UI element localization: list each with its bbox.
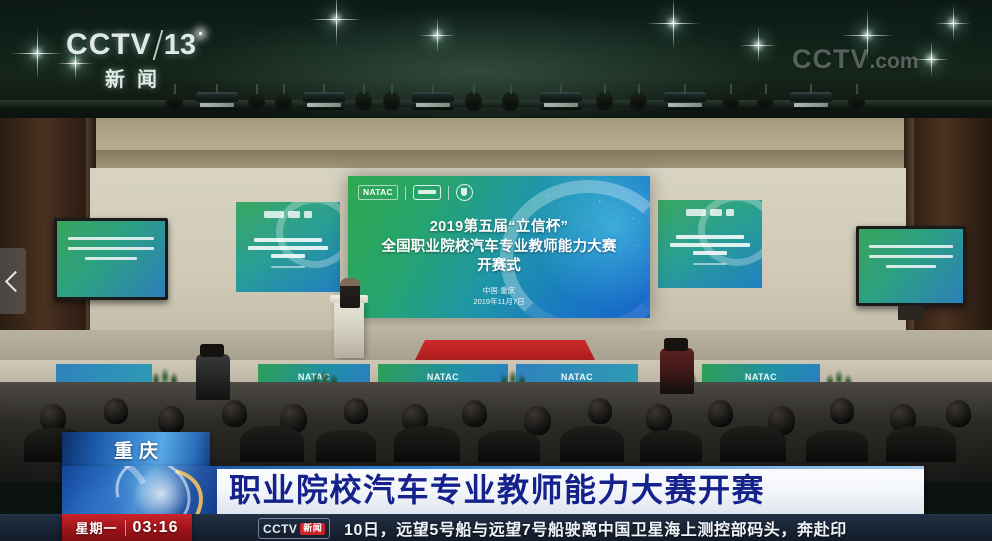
audience-figure: [886, 426, 956, 462]
stage-light-par: [248, 92, 265, 111]
speaker-person: [340, 278, 360, 308]
stage-side-banner-left: [236, 202, 340, 292]
audience-head: [344, 398, 368, 424]
audience-figure: [394, 426, 460, 462]
ticker-channel-badge: CCTV 新闻: [258, 518, 330, 539]
stage-light-par: [848, 92, 865, 111]
red-carpet: [414, 340, 596, 362]
light-flare: [952, 22, 954, 24]
audience-head: [104, 398, 128, 424]
audience-figure: [640, 430, 702, 462]
location-tag: 重庆: [62, 432, 210, 466]
light-flare: [36, 52, 38, 54]
stage-light-par: [166, 92, 183, 111]
stage-light-par: [757, 92, 774, 111]
broadcast-frame: NATAC 2019第五届“立信杯” 全国职业院校汽车专业教师能力大赛 开赛式 …: [0, 0, 992, 541]
screen-title-block: 2019第五届“立信杯” 全国职业院校汽车专业教师能力大赛 开赛式: [348, 218, 650, 277]
stage-light-par: [465, 92, 482, 111]
stage-light-par: [502, 92, 519, 111]
light-flare: [436, 34, 438, 36]
light-flare: [74, 62, 76, 64]
audience-figure: [806, 430, 868, 462]
screen-sponsor-logos: NATAC: [358, 184, 473, 201]
camera-operator: [660, 348, 694, 394]
audience-figure: [720, 426, 786, 462]
ticker-time: 03:16: [133, 519, 179, 537]
audience-head: [830, 398, 854, 424]
previous-arrow-button[interactable]: [0, 248, 26, 314]
light-flare: [335, 18, 337, 20]
audience-head: [946, 400, 971, 427]
ticker-clock-block: 星期一 03:16: [62, 514, 192, 541]
stage-light-par: [630, 92, 647, 111]
audience-head: [646, 404, 672, 432]
stage-light-fresnel: [540, 92, 582, 110]
stage-light-par: [355, 92, 372, 111]
screen-footer-date: 2019年11月7日: [348, 296, 650, 307]
stage-light-par: [596, 92, 613, 111]
audience-figure: [478, 430, 540, 462]
stage-light-fresnel: [664, 92, 706, 110]
natac-logo: NATAC: [358, 185, 398, 200]
podium: [334, 300, 364, 358]
screen-title-line-3: 开赛式: [348, 257, 650, 277]
stage-light-par: [275, 92, 292, 111]
chevron-left-icon: [4, 270, 25, 291]
ticker-weekday: 星期一: [76, 518, 118, 537]
ticker-clock-divider: [125, 520, 126, 536]
light-flare: [930, 58, 932, 60]
location-label: 重庆: [108, 436, 164, 463]
headline-text: 职业院校汽车专业教师能力大赛开赛: [217, 474, 924, 506]
sponsor-box-logo: [413, 185, 441, 200]
light-flare: [672, 22, 674, 24]
stage-light-par: [383, 92, 400, 111]
audience-head: [158, 406, 184, 434]
audience-head: [524, 406, 551, 435]
main-projection-screen: NATAC 2019第五届“立信杯” 全国职业院校汽车专业教师能力大赛 开赛式 …: [348, 176, 650, 318]
ticker-headline-text: 10日，远望5号船与远望7号船驶离中国卫星海上测控部码头，奔赴印: [344, 514, 847, 541]
audience-head: [588, 398, 612, 424]
screen-footer-location: 中国·重庆: [348, 285, 650, 296]
news-ticker-bar: 星期一 03:16 CCTV 新闻 10日，远望5号船与远望7号船驶离中国卫星海…: [0, 514, 992, 541]
audience-figure: [316, 430, 376, 462]
light-flare: [866, 34, 868, 36]
stage-light-fresnel: [303, 92, 345, 110]
screen-title-line-1: 2019第五届“立信杯”: [348, 218, 650, 238]
auditorium-monitor-left: [54, 218, 168, 300]
headline-bar: 职业院校汽车专业教师能力大赛开赛: [62, 466, 924, 514]
screen-title-line-2: 全国职业院校汽车专业教师能力大赛: [348, 238, 650, 258]
audience-head: [222, 400, 247, 427]
stage-side-banner-right: [658, 200, 762, 288]
sponsor-circle-logo: [456, 184, 473, 201]
camera-operator: [196, 354, 230, 400]
audience-head: [462, 400, 487, 427]
stage-light-fresnel: [196, 92, 238, 110]
audience-figure: [560, 426, 624, 462]
headline-decorative-graphic: [62, 466, 217, 514]
screen-footer: 中国·重庆 2019年11月7日: [348, 285, 650, 308]
audience-figure: [240, 426, 304, 462]
audience-head: [708, 400, 733, 427]
ticker-badge-label: 新闻: [300, 523, 325, 535]
auditorium-monitor-right: [856, 226, 966, 306]
side-banner-logos: [264, 211, 312, 218]
stage-light-fresnel: [790, 92, 832, 110]
stage-light-par: [722, 92, 739, 111]
lighting-truss: [0, 100, 992, 107]
ticker-badge-brand: CCTV: [263, 523, 297, 535]
light-flare: [757, 44, 759, 46]
side-banner-logos: [686, 209, 734, 216]
stage-light-fresnel: [412, 92, 454, 110]
